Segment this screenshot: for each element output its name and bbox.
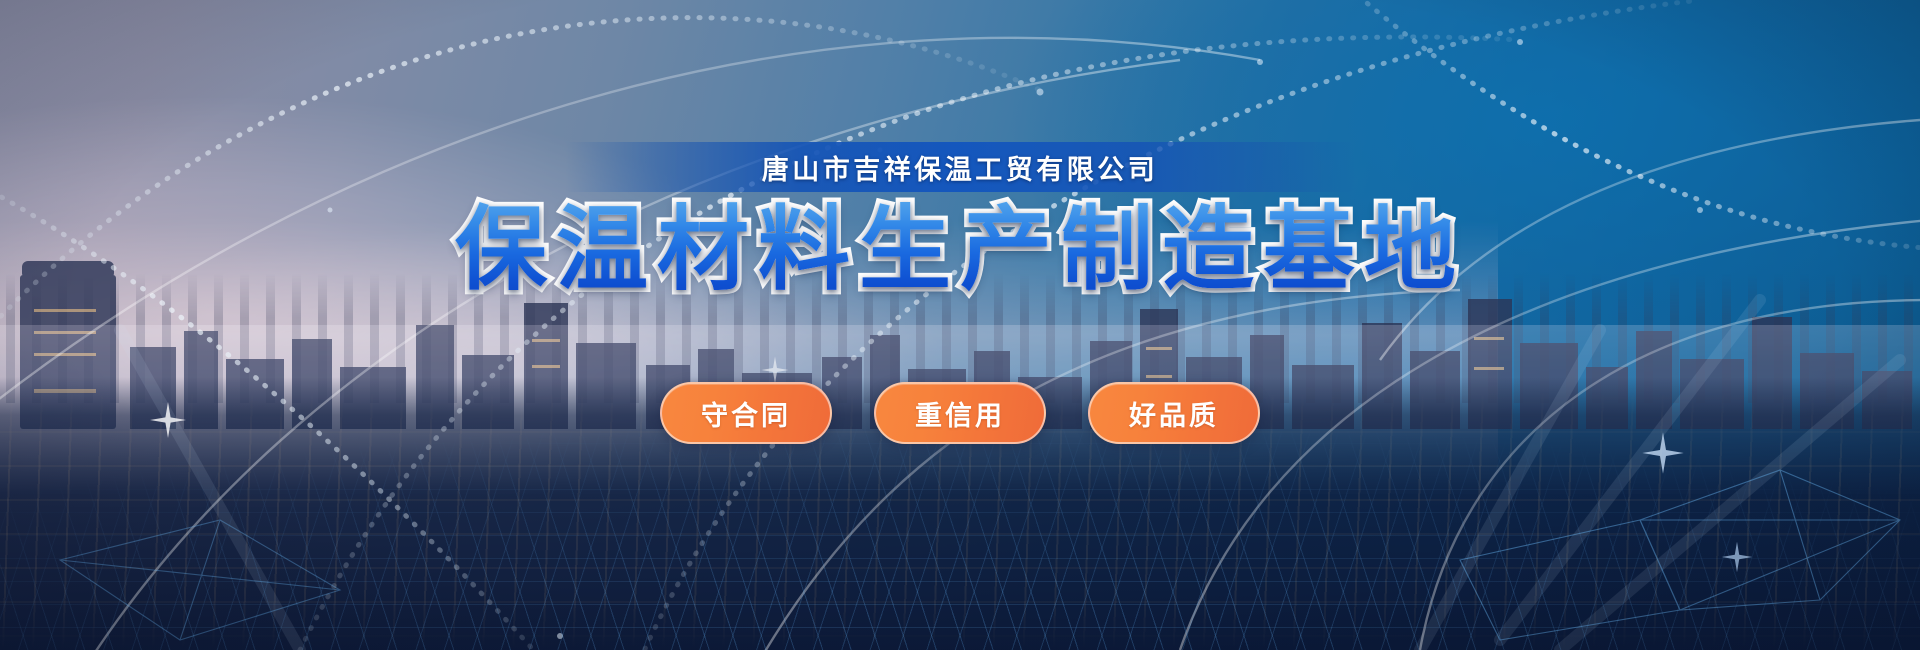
- pill-shou-he-tong[interactable]: 守合同: [660, 382, 832, 444]
- headline-text: 保温材料生产制造基地: [455, 196, 1465, 305]
- feature-pill-group: 守合同 重信用 好品质: [660, 382, 1260, 444]
- pill-hao-pin-zhi[interactable]: 好品质: [1088, 382, 1260, 444]
- company-name-band: 唐山市吉祥保温工贸有限公司: [565, 142, 1355, 192]
- pill-zhong-xin-yong[interactable]: 重信用: [874, 382, 1046, 444]
- pill-label: 守合同: [701, 394, 791, 433]
- pill-label: 重信用: [915, 394, 1005, 433]
- company-name: 唐山市吉祥保温工贸有限公司: [762, 148, 1159, 187]
- banner-content: 唐山市吉祥保温工贸有限公司 保温材料生产制造基地 保温材料生产制造基地 守合同 …: [0, 0, 1920, 650]
- pill-label: 好品质: [1129, 394, 1219, 433]
- hero-banner: 唐山市吉祥保温工贸有限公司 保温材料生产制造基地 保温材料生产制造基地 守合同 …: [0, 0, 1920, 650]
- headline-group: 保温材料生产制造基地 保温材料生产制造基地: [455, 196, 1465, 305]
